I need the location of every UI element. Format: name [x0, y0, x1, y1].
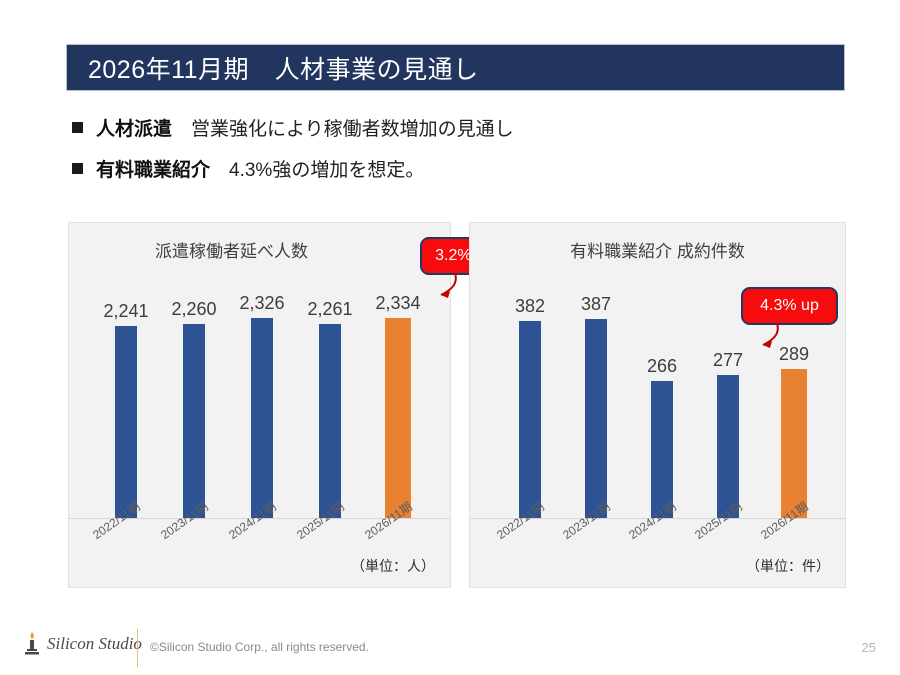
bar-column: 2,241: [111, 326, 141, 518]
page-number: 25: [862, 640, 876, 655]
bar-value-label: 266: [647, 356, 677, 377]
bar-column: 2,260: [179, 324, 209, 518]
bar-forecast: [385, 318, 411, 518]
bar-forecast: [781, 369, 807, 518]
unit-note: （単位：人）: [351, 556, 435, 576]
chart-panel-placement-contracts: 有料職業紹介 成約件数 4.3% up 382387266277289 （単位：…: [469, 222, 846, 588]
bar-value-label: 387: [581, 294, 611, 315]
chart-panel-dispatch-workers: 派遣稼働者延べ人数 3.2% up 2,2412,2602,3262,2612,…: [68, 222, 451, 588]
bar-column: 289: [779, 369, 809, 518]
bar-column: 387: [581, 319, 611, 518]
chart-title: 派遣稼働者延べ人数: [69, 237, 450, 262]
bullet-item: 人材派遣 営業強化により稼働者数増加の見通し: [72, 114, 772, 141]
bar-value-label: 382: [515, 296, 545, 317]
bar-value-label: 2,261: [307, 299, 352, 320]
bar-plot-area: 382387266277289: [470, 285, 845, 519]
bar-value-label: 2,241: [103, 301, 148, 322]
bar-actual: [183, 324, 205, 518]
bullet-list: 人材派遣 営業強化により稼働者数増加の見通し 有料職業紹介 4.3%強の増加を想…: [72, 114, 772, 196]
footer-divider: [137, 629, 138, 667]
bar-actual: [519, 321, 541, 518]
candle-logo-icon: [22, 631, 42, 657]
bar-column: 2,326: [247, 318, 277, 518]
page-title: 2026年11月期 人材事業の見通し: [67, 50, 479, 86]
bullet-keyword: 有料職業紹介: [96, 155, 210, 182]
bullet-keyword: 人材派遣: [96, 114, 172, 141]
bar-actual: [585, 319, 607, 518]
bar-value-label: 2,334: [375, 293, 420, 314]
unit-note: （単位：件）: [746, 556, 830, 576]
bar-value-label: 277: [713, 350, 743, 371]
brand-name: Silicon Studio: [47, 634, 142, 654]
bullet-text: 4.3%強の増加を想定。: [210, 155, 424, 182]
slide-title-bar: 2026年11月期 人材事業の見通し: [66, 44, 845, 91]
bar-column: 277: [713, 375, 743, 518]
brand-logo: Silicon Studio: [22, 631, 142, 657]
bar-value-label: 2,326: [239, 293, 284, 314]
bar-actual: [251, 318, 273, 518]
bar-column: 382: [515, 321, 545, 518]
bar-column: 266: [647, 381, 677, 518]
bar-actual: [319, 324, 341, 518]
bar-column: 2,261: [315, 324, 345, 518]
bar-column: 2,334: [383, 318, 413, 518]
square-bullet-icon: [72, 163, 83, 174]
square-bullet-icon: [72, 122, 83, 133]
chart-title: 有料職業紹介 成約件数: [470, 237, 845, 262]
bullet-item: 有料職業紹介 4.3%強の増加を想定。: [72, 155, 772, 182]
bar-value-label: 2,260: [171, 299, 216, 320]
bar-value-label: 289: [779, 344, 809, 365]
bar-actual: [115, 326, 137, 518]
bar-plot-area: 2,2412,2602,3262,2612,334: [69, 285, 450, 519]
bar-actual: [717, 375, 739, 518]
bullet-text: 営業強化により稼働者数増加の見通し: [172, 114, 514, 141]
copyright-text: ©Silicon Studio Corp., all rights reserv…: [150, 640, 369, 654]
